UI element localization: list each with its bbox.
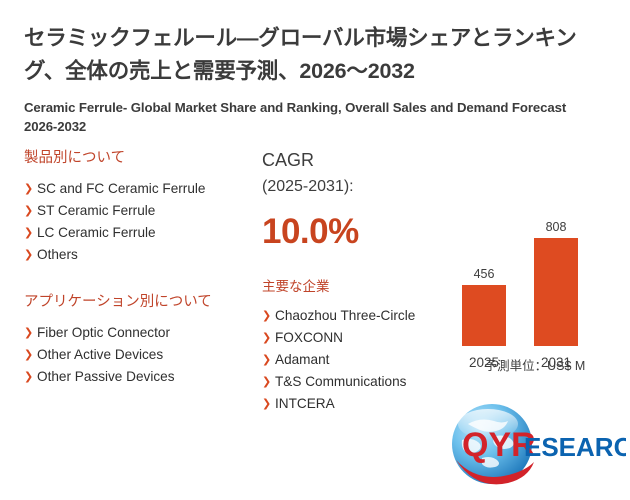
by-type-list: ❯ SC and FC Ceramic Ferrule ❯ ST Ceramic… (24, 178, 254, 266)
list-item-label: SC and FC Ceramic Ferrule (37, 181, 205, 196)
chevron-right-icon: ❯ (262, 393, 271, 415)
chevron-right-icon: ❯ (262, 371, 271, 393)
list-item[interactable]: ❯ LC Ceramic Ferrule (24, 222, 254, 244)
chevron-right-icon: ❯ (24, 322, 33, 344)
list-item-label: FOXCONN (275, 330, 343, 345)
chevron-right-icon: ❯ (24, 222, 33, 244)
bar-group-2025: 456 2025 (462, 226, 506, 346)
list-item[interactable]: ❯ ST Ceramic Ferrule (24, 200, 254, 222)
list-item[interactable]: ❯ SC and FC Ceramic Ferrule (24, 178, 254, 200)
list-item-label: ST Ceramic Ferrule (37, 203, 155, 218)
chart-plot-area: 456 2025 808 2031 (454, 226, 614, 346)
list-item-label: Other Passive Devices (37, 369, 175, 384)
page-title: セラミックフェルール—グローバル市場シェアとランキング、全体の売上と需要予測、2… (24, 22, 610, 88)
chevron-right-icon: ❯ (262, 305, 271, 327)
list-item-label: Chaozhou Three-Circle (275, 308, 415, 323)
bar-group-2031: 808 2031 (534, 226, 578, 346)
key-players-heading: 主要な企業 (262, 277, 442, 297)
segmentation-column: 製品別について ❯ SC and FC Ceramic Ferrule ❯ ST… (24, 148, 254, 388)
bar-value-label: 456 (448, 267, 520, 281)
list-item[interactable]: ❯ Chaozhou Three-Circle (262, 305, 442, 327)
cagr-value: 10.0% (262, 211, 442, 253)
column-spacer (24, 266, 254, 292)
list-item-label: Fiber Optic Connector (37, 325, 170, 340)
list-item-label: T&S Communications (275, 374, 406, 389)
chevron-right-icon: ❯ (24, 344, 33, 366)
list-item[interactable]: ❯ Adamant (262, 349, 442, 371)
list-item[interactable]: ❯ Others (24, 244, 254, 266)
chevron-right-icon: ❯ (24, 200, 33, 222)
bar-value-label: 808 (520, 220, 592, 234)
list-item[interactable]: ❯ Fiber Optic Connector (24, 322, 254, 344)
list-item[interactable]: ❯ Other Passive Devices (24, 366, 254, 388)
list-item[interactable]: ❯ Other Active Devices (24, 344, 254, 366)
list-item-label: Others (37, 247, 78, 262)
list-item-label: LC Ceramic Ferrule (37, 225, 156, 240)
by-application-list: ❯ Fiber Optic Connector ❯ Other Active D… (24, 322, 254, 388)
chevron-right-icon: ❯ (24, 366, 33, 388)
cagr-period: (2025-2031): (262, 175, 442, 199)
chevron-right-icon: ❯ (262, 327, 271, 349)
list-item-label: Other Active Devices (37, 347, 163, 362)
list-item[interactable]: ❯ T&S Communications (262, 371, 442, 393)
list-item-label: Adamant (275, 352, 329, 367)
cagr-column: CAGR (2025-2031): 10.0% 主要な企業 ❯ Chaozhou… (262, 148, 442, 415)
by-type-heading: 製品別について (24, 148, 254, 168)
key-players-list: ❯ Chaozhou Three-Circle ❯ FOXCONN ❯ Adam… (262, 305, 442, 415)
chevron-right-icon: ❯ (24, 178, 33, 200)
logo-artwork: QYR ESEARCH (448, 402, 626, 490)
cagr-label: CAGR (262, 148, 442, 173)
bar-rect[interactable] (462, 285, 506, 346)
page-subtitle: Ceramic Ferrule- Global Market Share and… (24, 98, 569, 136)
list-item[interactable]: ❯ INTCERA (262, 393, 442, 415)
chart-unit-note: 予測単位：US$ M (440, 355, 630, 374)
list-item[interactable]: ❯ FOXCONN (262, 327, 442, 349)
bar-rect[interactable] (534, 238, 578, 346)
chevron-right-icon: ❯ (24, 244, 33, 266)
chevron-right-icon: ❯ (262, 349, 271, 371)
by-application-heading: アプリケーション別について (24, 292, 254, 312)
logo-text-esearch: ESEARCH (524, 432, 626, 462)
qyresearch-logo: QYR ESEARCH (448, 402, 626, 490)
page-header: セラミックフェルール—グローバル市場シェアとランキング、全体の売上と需要予測、2… (24, 22, 610, 136)
list-item-label: INTCERA (275, 396, 335, 411)
